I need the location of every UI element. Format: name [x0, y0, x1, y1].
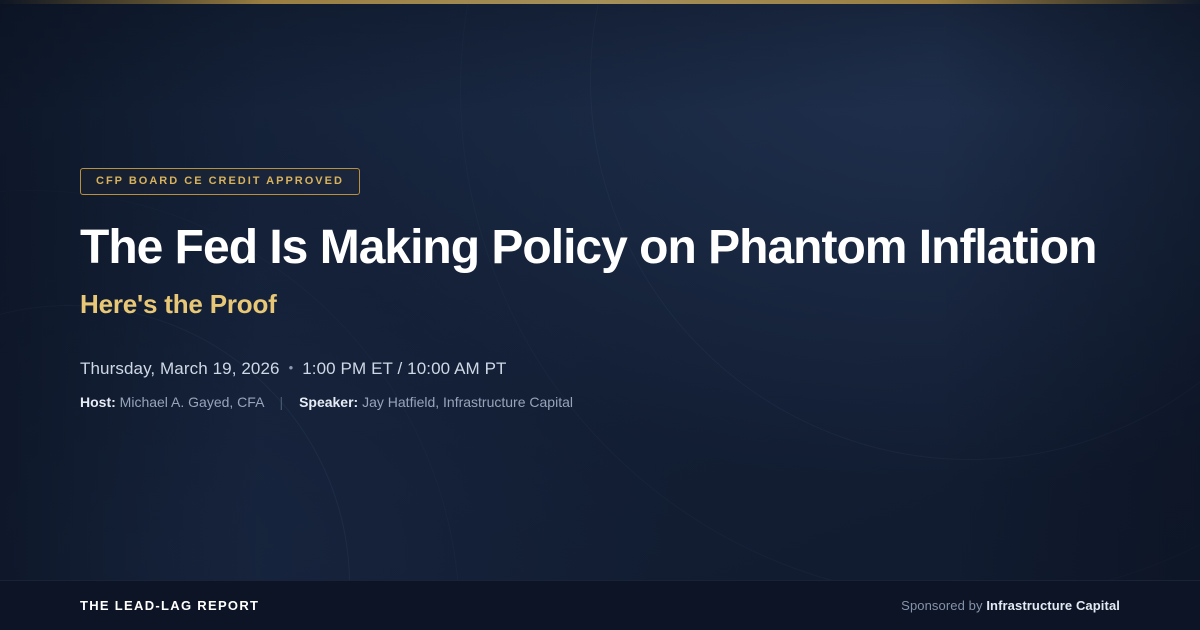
speaker-label: Speaker: — [299, 394, 358, 410]
cfp-credit-badge: CFP BOARD CE CREDIT APPROVED — [80, 168, 360, 195]
sponsored-by-label: Sponsored by — [901, 598, 986, 613]
speaker-name: Jay Hatfield, Infrastructure Capital — [362, 394, 573, 410]
sponsor-credit: Sponsored by Infrastructure Capital — [901, 598, 1120, 613]
hero-content: CFP BOARD CE CREDIT APPROVED The Fed Is … — [80, 0, 1140, 580]
brand-wordmark: THE LEAD-LAG REPORT — [80, 598, 259, 613]
credits-divider: | — [280, 394, 284, 410]
footer-bar: THE LEAD-LAG REPORT Sponsored by Infrast… — [0, 580, 1200, 630]
event-datetime: Thursday, March 19, 2026•1:00 PM ET / 10… — [80, 359, 1140, 379]
page-title: The Fed Is Making Policy on Phantom Infl… — [80, 223, 1140, 274]
event-credits: Host: Michael A. Gayed, CFA | Speaker: J… — [80, 393, 1140, 411]
event-time: 1:00 PM ET / 10:00 AM PT — [302, 359, 506, 378]
sponsor-name: Infrastructure Capital — [986, 598, 1120, 613]
page-subtitle: Here's the Proof — [80, 290, 1140, 319]
bullet-separator-icon: • — [289, 360, 294, 376]
webinar-promo-card: CFP BOARD CE CREDIT APPROVED The Fed Is … — [0, 0, 1200, 630]
host-name: Michael A. Gayed, CFA — [120, 394, 264, 410]
event-date: Thursday, March 19, 2026 — [80, 359, 280, 378]
host-label: Host: — [80, 394, 116, 410]
